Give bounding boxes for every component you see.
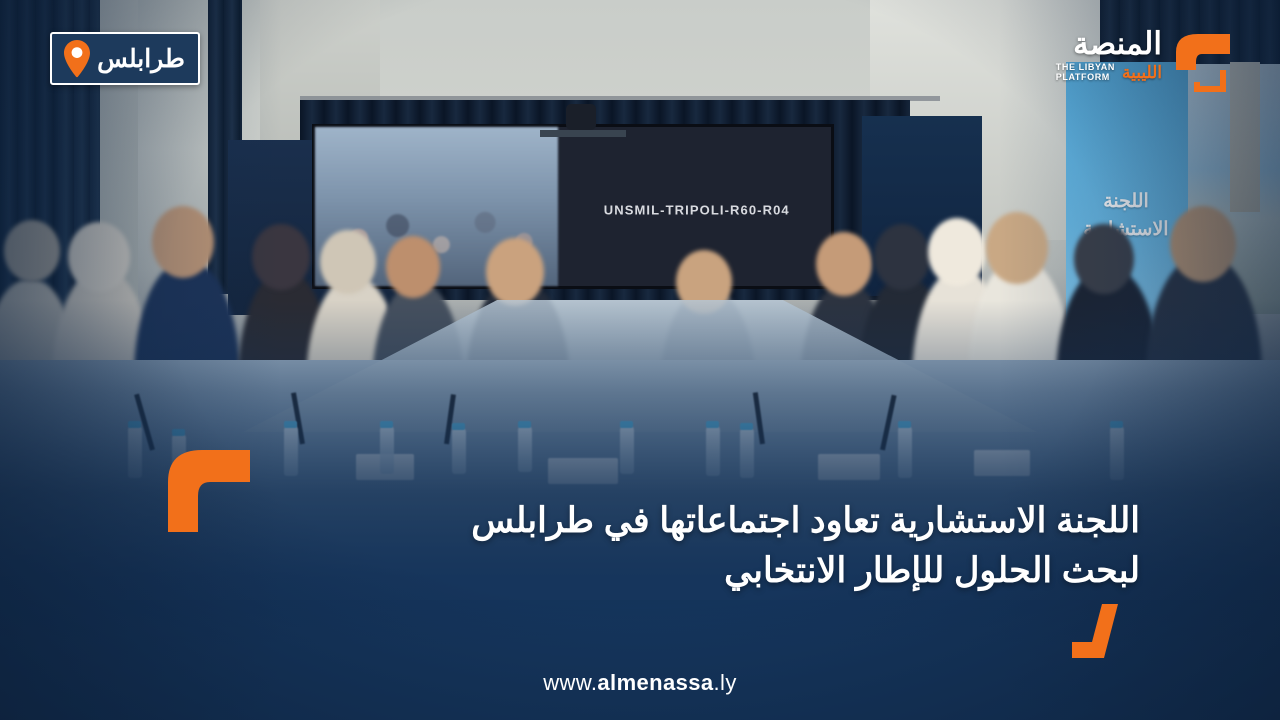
logo-second-row: THE LIBYAN PLATFORM الليبية (1056, 62, 1162, 83)
logo-english-line2: PLATFORM (1056, 72, 1115, 82)
site-logo: المنصة THE LIBYAN PLATFORM الليبية (1056, 18, 1242, 102)
bracket-bottom-right-icon (1072, 602, 1148, 660)
website-url[interactable]: www.almenassa.ly (0, 670, 1280, 696)
website-name: almenassa (597, 670, 713, 695)
logo-english: THE LIBYAN PLATFORM (1056, 62, 1115, 83)
news-graphic-card: UNSMIL-TRIPOLI-R60-R04 اللجنة الاستشارية (0, 0, 1280, 720)
map-pin-icon (62, 39, 92, 79)
logo-wordmark: المنصة THE LIBYAN PLATFORM الليبية (1056, 18, 1162, 83)
website-tld: .ly (714, 670, 737, 695)
website-prefix: www. (543, 670, 597, 695)
headline: اللجنة الاستشارية تعاود اجتماعاتها في طر… (220, 496, 1140, 595)
headline-line-1: اللجنة الاستشارية تعاود اجتماعاتها في طر… (220, 496, 1140, 546)
logo-arabic-secondary: الليبية (1122, 64, 1162, 81)
location-badge: طرابلس (50, 32, 200, 85)
location-label: طرابلس (92, 44, 198, 74)
headline-line-2: لبحث الحلول للإطار الانتخابي (220, 546, 1140, 596)
logo-english-line1: THE LIBYAN (1056, 62, 1115, 72)
logo-bracket-icon (1168, 18, 1242, 98)
logo-arabic-primary: المنصة (1073, 28, 1162, 59)
